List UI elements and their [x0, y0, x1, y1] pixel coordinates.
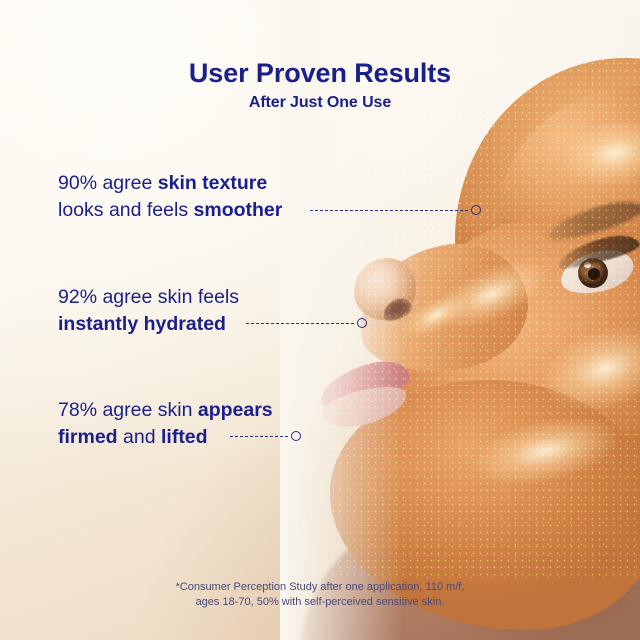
pupil	[588, 268, 600, 280]
claim-firmness: 78% agree skin appears firmed and lifted	[58, 397, 273, 451]
claim-firmness-line-1: 78% agree skin appears	[58, 397, 273, 424]
claim-hydration-line-2: instantly hydrated	[58, 311, 239, 338]
leader-dot-icon	[291, 431, 301, 441]
claim-texture: 90% agree skin texture looks and feels s…	[58, 170, 282, 224]
leader-dashes	[246, 323, 354, 324]
claim-texture-line-2-bold: smoother	[194, 199, 283, 221]
leader-dashes	[310, 210, 468, 211]
results-poster: User Proven Results After Just One Use 9…	[0, 0, 640, 640]
claim-firmness-line-2-regular: and	[118, 426, 161, 448]
leader-dot-icon	[357, 318, 367, 328]
footnote-disclaimer: *Consumer Perception Study after one app…	[0, 580, 640, 609]
leader-dashes	[230, 436, 288, 437]
claim-hydration-line-1-regular: 92% agree skin feels	[58, 286, 239, 308]
footnote-line-2: ages 18-70, 50% with self-perceived sens…	[0, 595, 640, 610]
footnote-line-1: *Consumer Perception Study after one app…	[0, 580, 640, 595]
claim-texture-line-2: looks and feels smoother	[58, 197, 282, 224]
claim-hydration: 92% agree skin feels instantly hydrated	[58, 284, 239, 338]
claim-hydration-line-1: 92% agree skin feels	[58, 284, 239, 311]
page-subtitle: After Just One Use	[0, 94, 640, 112]
header: User Proven Results After Just One Use	[0, 58, 640, 112]
leader-dot-icon	[471, 205, 481, 215]
claim-texture-line-2-regular: looks and feels	[58, 199, 194, 221]
claim-firmness-line-2-bold-a: firmed	[58, 426, 118, 448]
leader-line-hydration	[246, 318, 367, 328]
claim-texture-line-1-bold: skin texture	[158, 172, 267, 194]
claim-firmness-line-1-bold: appears	[198, 399, 273, 421]
page-title: User Proven Results	[0, 58, 640, 88]
claim-hydration-line-2-bold: instantly hydrated	[58, 313, 226, 335]
leader-line-texture	[310, 205, 481, 215]
claim-texture-line-1-regular: 90% agree	[58, 172, 158, 194]
claim-firmness-line-2-bold-b: lifted	[161, 426, 208, 448]
leader-line-firmness	[230, 431, 301, 441]
claim-firmness-line-1-regular: 78% agree skin	[58, 399, 198, 421]
claim-texture-line-1: 90% agree skin texture	[58, 170, 282, 197]
